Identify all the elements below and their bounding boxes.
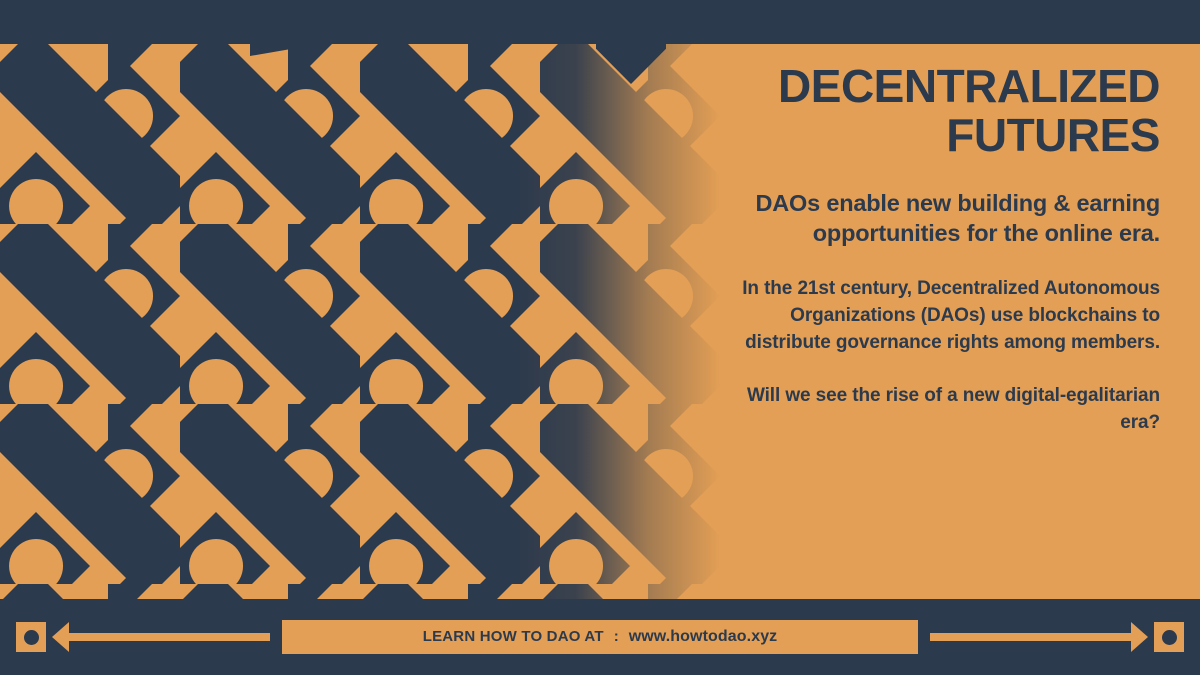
subtitle: DAOs enable new building & earning oppor…: [740, 188, 1160, 248]
footer-rule-left: [69, 633, 270, 641]
cta-banner-content: LEARN HOW TO DAO AT : www.howtodao.xyz: [423, 628, 778, 646]
circle-in-square-icon-right: [1154, 622, 1184, 652]
body-paragraph-2: Will we see the rise of a new digital-eg…: [740, 383, 1160, 437]
page-title-line-2: FUTURES: [946, 109, 1160, 161]
diagonal-diamond-circle-pattern: [0, 44, 720, 599]
artwork-panel: DECENTRALIZED FUTURES DAOs enable new bu…: [0, 44, 1200, 599]
footer-rule-right: [930, 633, 1131, 641]
triangle-left-icon: [52, 622, 69, 652]
triangle-right-icon: [1131, 622, 1148, 652]
page-title-line-1: DECENTRALIZED: [778, 60, 1160, 112]
cta-url[interactable]: www.howtodao.xyz: [629, 628, 778, 646]
cta-label: LEARN HOW TO DAO AT: [423, 628, 604, 645]
headline-block: DECENTRALIZED FUTURES DAOs enable new bu…: [740, 62, 1160, 437]
circle-glyph-right: [1162, 630, 1177, 645]
circle-glyph: [24, 630, 39, 645]
poster-canvas: DECENTRALIZED FUTURES DAOs enable new bu…: [0, 0, 1200, 675]
cta-separator: :: [604, 628, 629, 645]
cta-banner[interactable]: LEARN HOW TO DAO AT : www.howtodao.xyz: [282, 620, 918, 654]
circle-in-square-icon: [16, 622, 46, 652]
page-title: DECENTRALIZED FUTURES: [740, 62, 1160, 160]
body-paragraph-1: In the 21st century, Decentralized Auton…: [740, 276, 1160, 357]
footer-bar: LEARN HOW TO DAO AT : www.howtodao.xyz: [0, 599, 1200, 675]
